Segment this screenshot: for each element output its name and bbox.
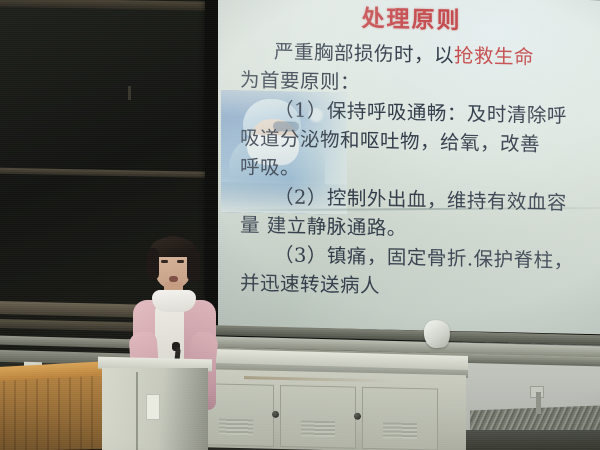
- eye-right: [177, 260, 184, 263]
- desk-scuff-mark: [244, 376, 394, 382]
- slide-body-text: 严重胸部损伤时，以抢救生命 为首要原则： （1）保持呼吸通畅：及时清除呼 吸道分…: [240, 36, 600, 306]
- slide-line-1-highlight: 抢救生命: [454, 44, 534, 69]
- cabinet-knob[interactable]: [354, 413, 361, 420]
- projection-screen-surface: 处理原则 严重胸部损伤时，以抢救生命 为首要原则： （1）保持呼吸通畅：及时清除…: [218, 0, 600, 334]
- eye-left: [161, 260, 168, 263]
- shirt-collar: [152, 290, 196, 312]
- wall-switch-stem: [536, 392, 541, 414]
- classroom-photo: 处理原则 严重胸部损伤时，以抢救生命 为首要原则： （1）保持呼吸通畅：及时清除…: [0, 0, 600, 450]
- hair-side-left: [147, 248, 159, 280]
- cabinet-vent-icon: [301, 420, 335, 437]
- slide-line-1-plain: 严重胸部损伤时，以: [274, 40, 454, 67]
- lectern-shading: [102, 368, 208, 450]
- chalkboard-frame-middle: [0, 168, 232, 178]
- cabinet-knob[interactable]: [272, 411, 279, 418]
- teacher-desk-cabinet: [184, 369, 466, 450]
- chalkboard-frame-top: [0, 0, 232, 11]
- slide-title: 处理原则: [218, 0, 600, 38]
- cabinet-door-2[interactable]: [280, 385, 356, 449]
- hair-side-right: [187, 248, 200, 282]
- cabinet-door-3[interactable]: [362, 387, 438, 450]
- projection-screen: 处理原则 严重胸部损伤时，以抢救生命 为首要原则： （1）保持呼吸通畅：及时清除…: [205, 0, 600, 345]
- cabinet-vent-icon: [383, 422, 417, 439]
- wooden-table-shading: [0, 376, 110, 450]
- chalk-mark: [128, 86, 131, 100]
